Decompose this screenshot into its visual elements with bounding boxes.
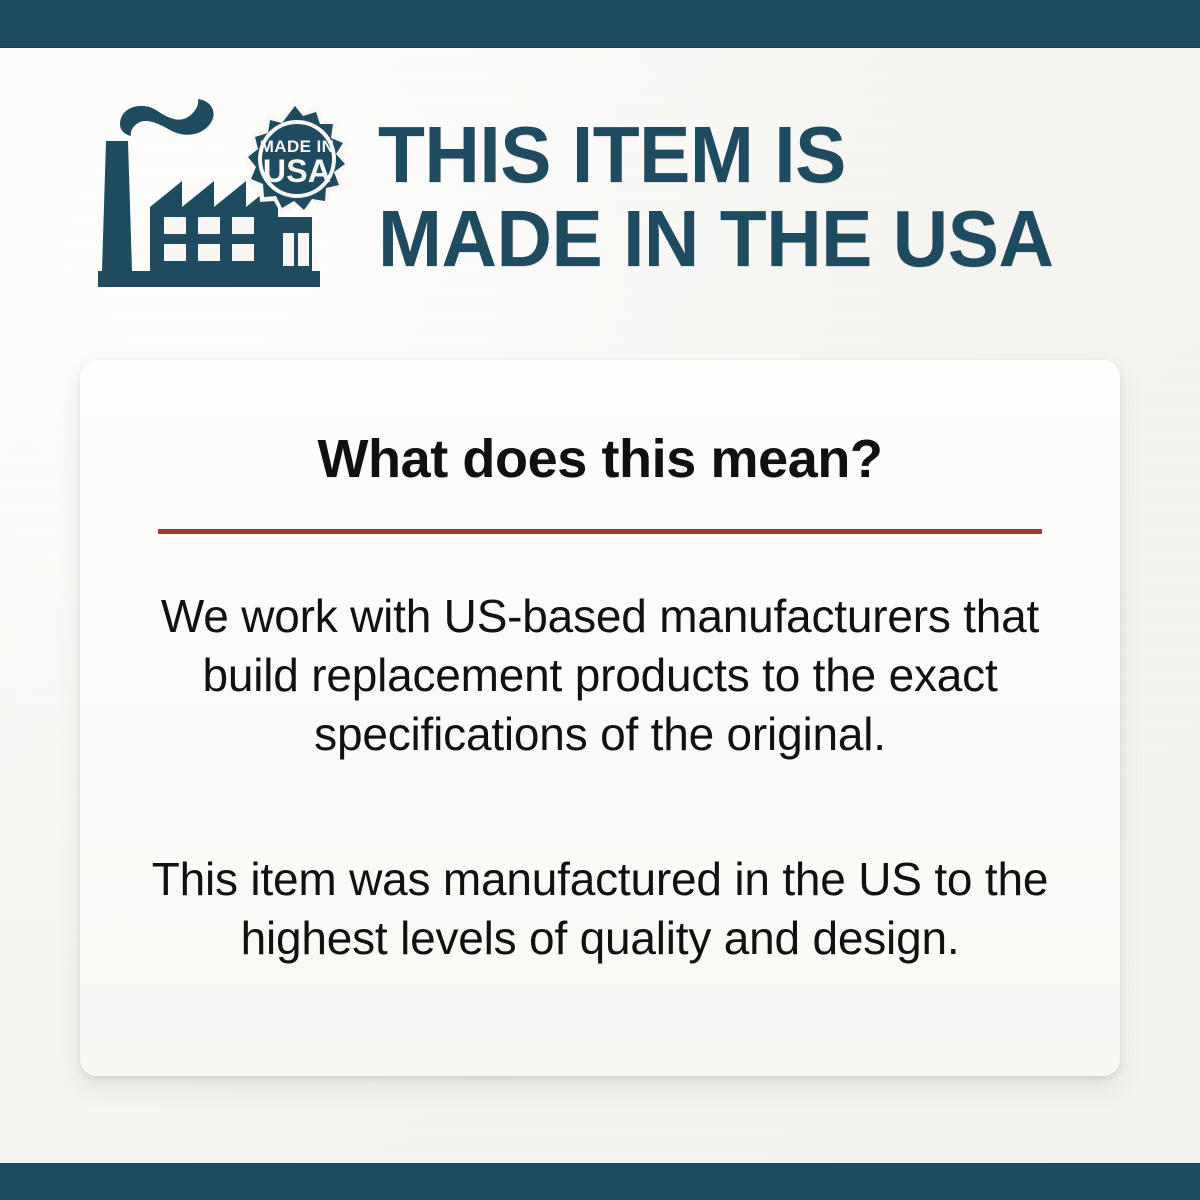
info-card: What does this mean? We work with US-bas…: [80, 360, 1120, 1076]
header-section: MADE IN USA THIS ITEM IS MADE IN THE USA: [0, 92, 1200, 302]
top-accent-band: [0, 0, 1200, 48]
card-heading: What does this mean?: [80, 360, 1120, 486]
card-body: We work with US-based manufacturers that…: [80, 587, 1120, 967]
red-divider-rule: [158, 529, 1042, 534]
page-title-line-1: THIS ITEM IS: [378, 116, 1167, 194]
svg-text:USA: USA: [263, 153, 331, 189]
card-paragraph-2: This item was manufactured in the US to …: [126, 850, 1074, 968]
bottom-accent-band: [0, 1163, 1200, 1200]
page-title: THIS ITEM IS MADE IN THE USA: [378, 116, 1200, 279]
card-paragraph-1: We work with US-based manufacturers that…: [126, 587, 1074, 764]
factory-icon: MADE IN USA: [98, 99, 354, 295]
made-in-usa-infographic: MADE IN USA THIS ITEM IS MADE IN THE USA…: [0, 0, 1200, 1200]
page-title-line-2: MADE IN THE USA: [378, 200, 1167, 278]
